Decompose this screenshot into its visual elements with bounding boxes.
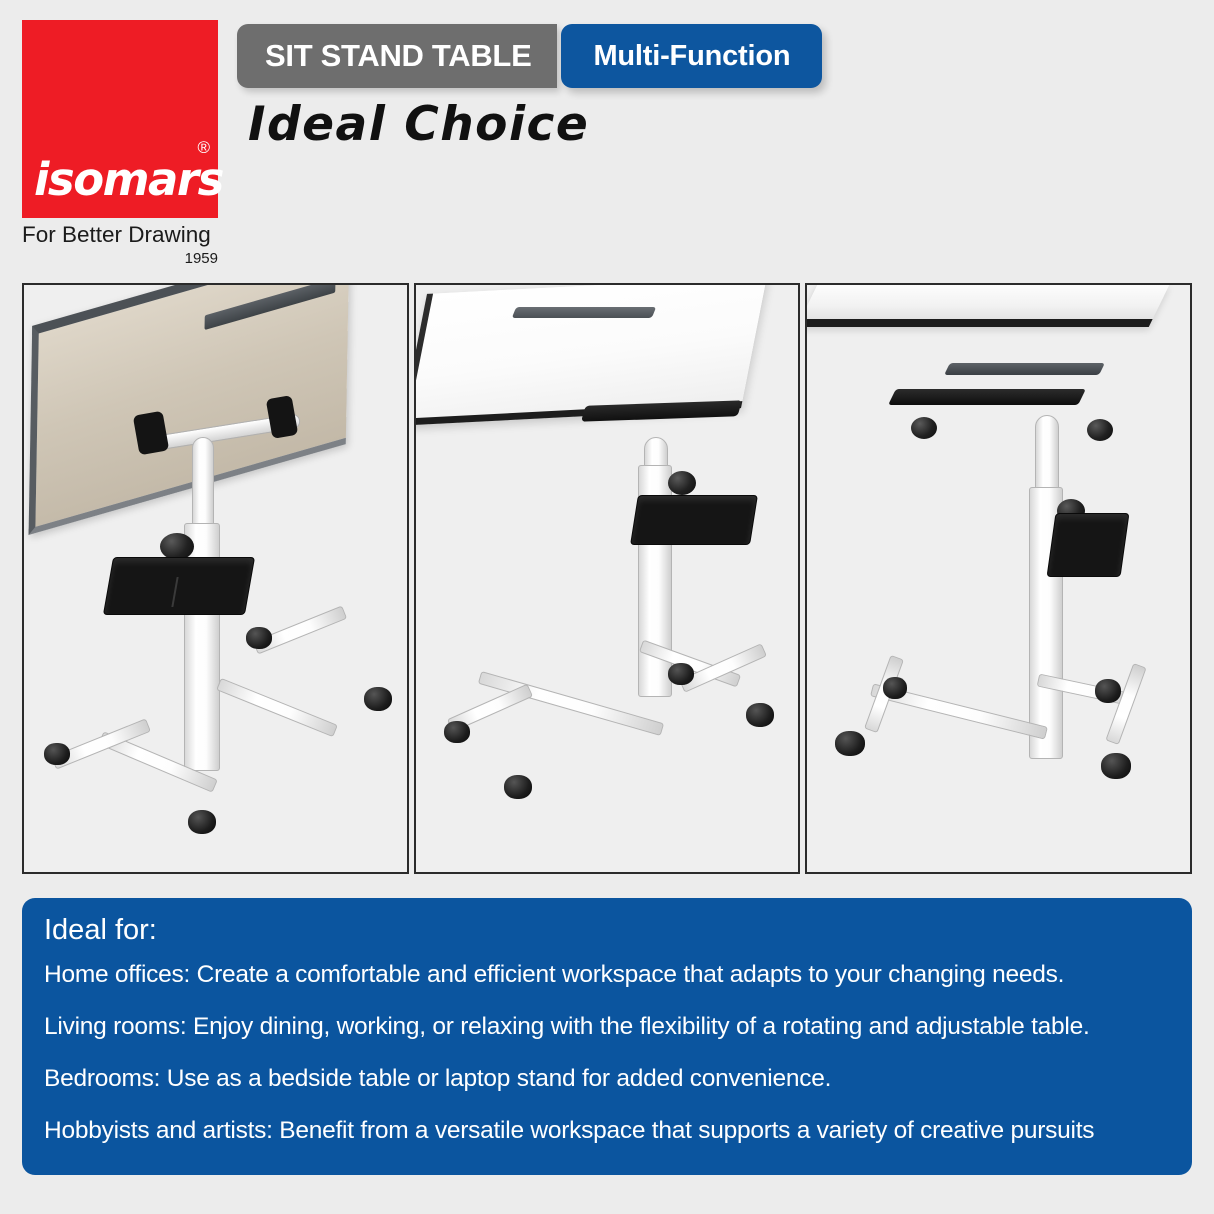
product-illustration-flat [807, 285, 1190, 872]
ideal-for-panel: Ideal for: Home offices: Create a comfor… [22, 898, 1192, 1175]
logo-red-box: isomars ® [22, 20, 218, 218]
height-adjust-knob [668, 471, 696, 495]
caster-wheel-rear-right [746, 703, 774, 727]
storage-tray [630, 495, 758, 545]
ideal-for-item-living-rooms: Living rooms: Enjoy dining, working, or … [44, 1013, 1170, 1042]
registered-trademark-icon: ® [197, 139, 210, 156]
brand-wordmark: isomars [34, 157, 223, 202]
tilt-lock-knob-left [911, 417, 937, 439]
caster-wheel-front-right [188, 810, 216, 834]
table-top-surface [29, 283, 350, 535]
storage-tray [103, 557, 255, 615]
product-illustration-angled [416, 285, 799, 872]
table-top-ledge [511, 307, 655, 318]
table-top-surface [805, 285, 1169, 327]
brand-tagline: For Better Drawing [22, 221, 218, 249]
feature-label: Multi-Function [593, 40, 790, 73]
product-name-tag: SIT STAND TABLE [237, 24, 557, 88]
ideal-for-item-hobbyists: Hobbyists and artists: Benefit from a ve… [44, 1117, 1170, 1146]
caster-wheel-rear-left [246, 627, 272, 649]
ideal-for-item-home-offices: Home offices: Create a comfortable and e… [44, 961, 1170, 990]
header: isomars ® For Better Drawing 1959 SIT ST… [0, 0, 1214, 282]
caster-wheel-rear-left [883, 677, 907, 699]
brand-founding-year: 1959 [22, 250, 218, 268]
table-top-ledge [944, 363, 1105, 375]
caster-wheel-front-right [1101, 753, 1131, 779]
ideal-for-item-bedrooms: Bedrooms: Use as a bedside table or lapt… [44, 1065, 1170, 1094]
product-photo-angled [414, 283, 801, 874]
ideal-for-title: Ideal for: [44, 912, 1170, 948]
product-infographic: isomars ® For Better Drawing 1959 SIT ST… [0, 0, 1214, 1214]
product-name-label: SIT STAND TABLE [265, 38, 531, 74]
product-banner: SIT STAND TABLE Multi-Function [237, 24, 822, 88]
base-rail-rear [216, 678, 338, 737]
product-photo-tilted [22, 283, 409, 874]
tilt-lock-knob-right [1087, 419, 1113, 441]
caster-wheel-rear-right [1095, 679, 1121, 703]
upper-pole [192, 437, 214, 535]
height-adjust-knob [160, 533, 194, 560]
caster-wheel-rear-left [668, 663, 694, 685]
product-photo-gallery [22, 283, 1192, 874]
headline-text: Ideal Choice [248, 97, 589, 152]
base-foot-right [1106, 663, 1147, 745]
caster-wheel-front-left [44, 743, 70, 765]
storage-tray [1047, 513, 1130, 577]
product-photo-flat [805, 283, 1192, 874]
feature-tag: Multi-Function [561, 24, 822, 88]
table-front-stop-bar [888, 389, 1086, 405]
brand-logo: isomars ® For Better Drawing 1959 [22, 20, 218, 268]
caster-wheel-front-right [504, 775, 532, 799]
caster-wheel-rear-right [364, 687, 392, 711]
product-illustration-tilted [24, 285, 407, 872]
caster-wheel-front-left [444, 721, 470, 743]
caster-wheel-front-left [835, 731, 865, 756]
